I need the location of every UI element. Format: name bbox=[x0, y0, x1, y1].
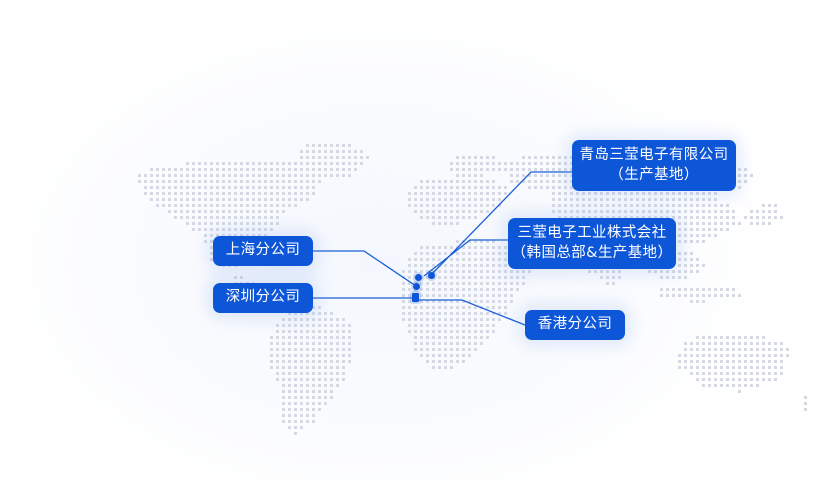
label-shanghai[interactable]: 上海分公司 bbox=[213, 236, 313, 266]
infographic-canvas: 青岛三莹电子有限公司 （生产基地） 三莹电子工业株式会社 （韩国总部&生产基地）… bbox=[0, 0, 824, 480]
label-qingdao-line1: 青岛三莹电子有限公司 bbox=[580, 146, 729, 165]
label-qingdao[interactable]: 青岛三莹电子有限公司 （生产基地） bbox=[572, 140, 736, 191]
connector-hongkong bbox=[416, 300, 525, 325]
marker-qingdao[interactable] bbox=[428, 272, 435, 279]
label-shenzhen[interactable]: 深圳分公司 bbox=[213, 283, 313, 313]
label-shenzhen-line1: 深圳分公司 bbox=[226, 288, 301, 307]
label-hongkong-line1: 香港分公司 bbox=[538, 315, 613, 334]
label-korea-line2: （韩国总部&生产基地） bbox=[512, 244, 673, 263]
label-shanghai-line1: 上海分公司 bbox=[226, 241, 301, 260]
marker-shanghai[interactable] bbox=[413, 283, 420, 290]
label-qingdao-line2: （生产基地） bbox=[609, 166, 698, 185]
label-korea-line1: 三莹电子工业株式会社 bbox=[518, 224, 667, 243]
connector-korea bbox=[424, 240, 508, 276]
marker-korea[interactable] bbox=[415, 274, 422, 281]
label-korea[interactable]: 三莹电子工业株式会社 （韩国总部&生产基地） bbox=[508, 218, 676, 269]
connector-shanghai bbox=[313, 251, 416, 286]
label-hongkong[interactable]: 香港分公司 bbox=[525, 310, 625, 340]
marker-shenzhen[interactable] bbox=[412, 293, 419, 302]
connector-lines bbox=[0, 0, 824, 480]
